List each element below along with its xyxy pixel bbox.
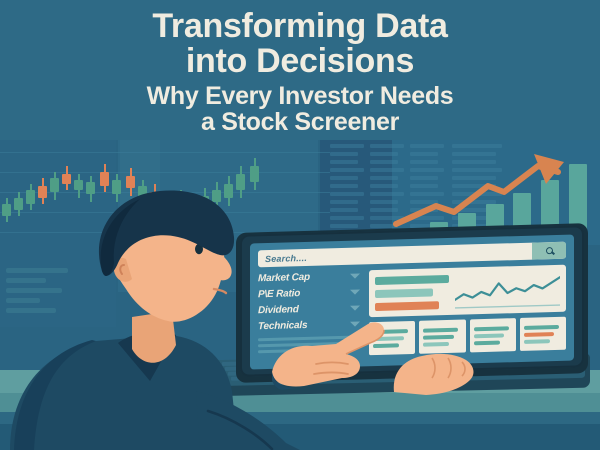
- result-card-line: [524, 339, 550, 344]
- table-row: [330, 200, 358, 204]
- result-card[interactable]: [419, 320, 465, 354]
- chevron-down-icon: [350, 305, 360, 310]
- result-card[interactable]: [520, 317, 566, 351]
- table-row: [330, 208, 358, 212]
- table-row: [410, 144, 444, 148]
- summary-bars: [375, 273, 449, 312]
- chevron-down-icon: [350, 273, 360, 278]
- chevron-down-icon: [350, 289, 360, 294]
- summary-bar: [375, 301, 439, 311]
- results-content: [369, 265, 566, 356]
- result-card[interactable]: [470, 318, 516, 352]
- table-row: [330, 224, 358, 228]
- result-card-row: [369, 317, 566, 356]
- result-card-line: [423, 334, 454, 339]
- pointing-hand: [272, 316, 392, 394]
- table-row: [330, 152, 358, 156]
- line-chart-svg: [455, 270, 560, 310]
- result-card-line: [474, 340, 500, 345]
- search-button[interactable]: [532, 242, 566, 260]
- table-row: [330, 216, 364, 220]
- table-row: [452, 144, 502, 148]
- table-row: [330, 184, 358, 188]
- hand-on-keyboard: [392, 352, 478, 396]
- page-title-line1: Transforming Data: [0, 0, 600, 44]
- table-row: [330, 144, 364, 148]
- illustration-stage: Search.... Market Cap P\E Ratio: [0, 0, 600, 450]
- header-banner: Transforming Data into Decisions Why Eve…: [0, 0, 600, 140]
- trend-line-chart: [455, 270, 560, 310]
- table-row: [330, 168, 364, 172]
- result-card-line: [524, 332, 555, 337]
- table-row: [330, 160, 358, 164]
- candle-body: [250, 166, 259, 182]
- table-row: [330, 176, 358, 180]
- result-card-line: [474, 333, 505, 338]
- result-card-line: [423, 341, 449, 346]
- candle-body: [62, 174, 71, 184]
- candle-body: [100, 172, 109, 186]
- page-subtitle-line2: a Stock Screener: [0, 110, 600, 136]
- search-icon: [546, 247, 553, 254]
- summary-card[interactable]: [369, 265, 566, 318]
- table-row: [370, 144, 404, 148]
- result-card-line: [524, 324, 559, 329]
- page-subtitle-line1: Why Every Investor Needs: [0, 78, 600, 110]
- summary-bar: [375, 288, 433, 298]
- summary-bar: [375, 274, 449, 284]
- result-card-line: [474, 326, 509, 331]
- table-row: [330, 192, 364, 196]
- result-card-line: [423, 327, 458, 332]
- page-title-line2: into Decisions: [0, 44, 600, 79]
